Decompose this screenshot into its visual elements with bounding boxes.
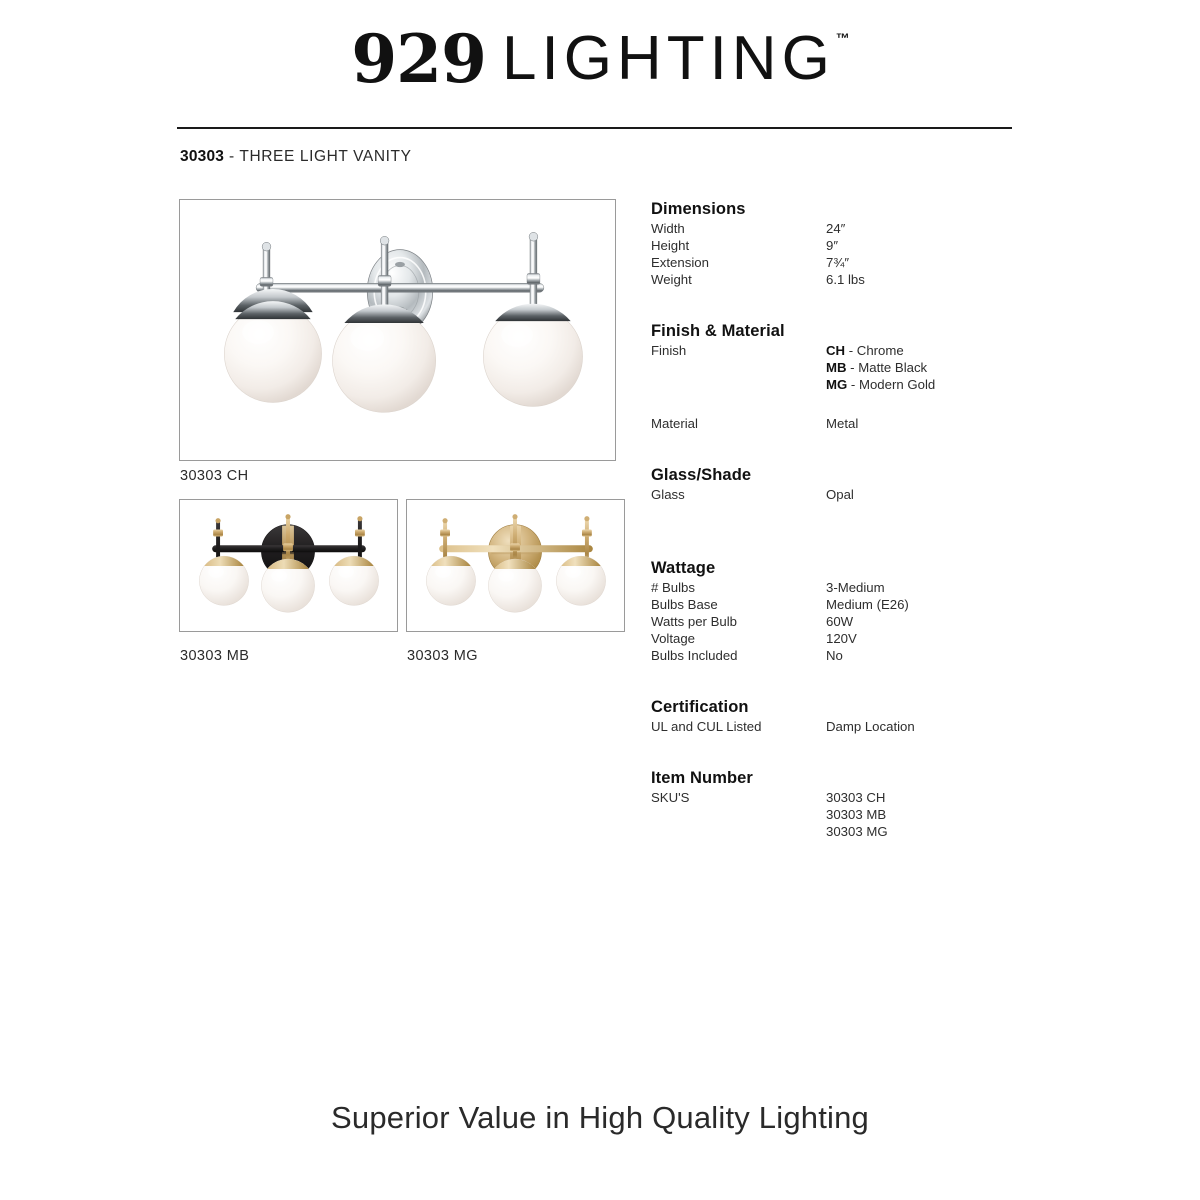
spec-section-certification: Certification UL and CUL Listed Damp Loc… xyxy=(651,698,1051,735)
spec-label-skus: SKU'S xyxy=(651,789,826,806)
spec-section-finish-material: Finish & Material Finish CH - Chrome MB … xyxy=(651,322,1051,432)
spec-row: Bulbs Base Medium (E26) xyxy=(651,596,1051,613)
spec-row: Extension 7¾″ xyxy=(651,254,1051,271)
spec-label: Extension xyxy=(651,254,826,271)
spec-row: 30303 MG xyxy=(651,823,1051,840)
title-separator: - xyxy=(224,148,239,165)
spec-row: Finish CH - Chrome xyxy=(651,342,1051,359)
spec-label: Watts per Bulb xyxy=(651,613,826,630)
finish-code-ch: CH xyxy=(826,343,845,358)
finish-dash: - xyxy=(845,343,857,358)
logo-numerals: 929 xyxy=(351,26,486,92)
spec-value: 9″ xyxy=(826,237,1051,254)
spec-value: CH - Chrome xyxy=(826,342,1051,359)
spec-row: MB - Matte Black xyxy=(651,359,1051,376)
brand-logo: 929 LIGHTING ™ xyxy=(0,26,1200,92)
spec-value-sku: 30303 MG xyxy=(826,823,1051,840)
glass-shade-heading: Glass/Shade xyxy=(651,466,1051,485)
spec-value: 3-Medium xyxy=(826,579,1051,596)
title-product-name: THREE LIGHT VANITY xyxy=(239,148,411,165)
globe-right xyxy=(483,304,582,407)
finish-dash: - xyxy=(847,377,859,392)
finish-code-mg: MG xyxy=(826,377,847,392)
spec-row: Bulbs Included No xyxy=(651,647,1051,664)
spec-row: Height 9″ xyxy=(651,237,1051,254)
spec-row: 30303 MB xyxy=(651,806,1051,823)
finish-name-mb: Matte Black xyxy=(858,360,927,375)
spec-value: Metal xyxy=(826,415,1051,432)
globe-left-mb xyxy=(199,556,248,605)
spec-value: 120V xyxy=(826,630,1051,647)
finish-material-heading: Finish & Material xyxy=(651,322,1051,341)
footer-tagline: Superior Value in High Quality Lighting xyxy=(0,1100,1200,1136)
spec-row: # Bulbs 3-Medium xyxy=(651,579,1051,596)
spec-row: Material Metal xyxy=(651,415,1051,432)
spec-value-sku: 30303 MB xyxy=(826,806,1051,823)
certification-heading: Certification xyxy=(651,698,1051,717)
spec-section-glass-shade: Glass/Shade Glass Opal xyxy=(651,466,1051,503)
item-number-heading: Item Number xyxy=(651,769,1051,788)
spec-label: Glass xyxy=(651,486,826,503)
spec-value: Medium (E26) xyxy=(826,596,1051,613)
specifications-panel: Dimensions Width 24″ Height 9″ Extension… xyxy=(651,200,1051,840)
globe-left xyxy=(224,289,321,402)
spec-value: 24″ xyxy=(826,220,1051,237)
spec-value: MB - Matte Black xyxy=(826,359,1051,376)
spec-row: Weight 6.1 lbs xyxy=(651,271,1051,288)
header-divider xyxy=(177,127,1012,129)
spec-value: 60W xyxy=(826,613,1051,630)
spec-label: # Bulbs xyxy=(651,579,826,596)
logo-wordmark: LIGHTING xyxy=(502,28,835,90)
page-title: 30303 - THREE LIGHT VANITY xyxy=(180,148,412,166)
product-image-modern-gold xyxy=(406,499,625,632)
globe-center xyxy=(333,304,436,412)
finish-dash: - xyxy=(847,360,859,375)
spec-label: UL and CUL Listed xyxy=(651,718,826,735)
caption-matte-black: 30303 MB xyxy=(180,648,249,664)
spec-value: Damp Location xyxy=(826,718,1051,735)
caption-modern-gold: 30303 MG xyxy=(407,648,478,664)
dimensions-heading: Dimensions xyxy=(651,200,1051,219)
finish-code-mb: MB xyxy=(826,360,847,375)
spec-label: Bulbs Base xyxy=(651,596,826,613)
spec-label-empty xyxy=(651,823,826,840)
product-image-chrome xyxy=(179,199,616,461)
spec-label-empty xyxy=(651,359,826,376)
crossbar xyxy=(256,283,544,292)
spec-value: Opal xyxy=(826,486,1051,503)
spec-section-dimensions: Dimensions Width 24″ Height 9″ Extension… xyxy=(651,200,1051,288)
finish-name-ch: Chrome xyxy=(857,343,904,358)
spec-label-empty xyxy=(651,806,826,823)
globe-left-mg xyxy=(426,556,475,605)
spec-value: 6.1 lbs xyxy=(826,271,1051,288)
spec-label: Material xyxy=(651,415,826,432)
spec-row: Width 24″ xyxy=(651,220,1051,237)
spec-label: Bulbs Included xyxy=(651,647,826,664)
spec-row: SKU'S 30303 CH xyxy=(651,789,1051,806)
spec-value: 7¾″ xyxy=(826,254,1051,271)
globe-right-mb xyxy=(329,556,378,605)
spec-row: Voltage 120V xyxy=(651,630,1051,647)
trademark-symbol: ™ xyxy=(836,30,850,46)
spec-label-empty xyxy=(651,376,826,393)
spec-row: MG - Modern Gold xyxy=(651,376,1051,393)
wattage-heading: Wattage xyxy=(651,559,1051,578)
spec-value-sku: 30303 CH xyxy=(826,789,1051,806)
title-sku: 30303 xyxy=(180,148,224,165)
spec-section-wattage: Wattage # Bulbs 3-Medium Bulbs Base Medi… xyxy=(651,559,1051,664)
spec-label: Weight xyxy=(651,271,826,288)
spec-row: Glass Opal xyxy=(651,486,1051,503)
globe-center-mb xyxy=(261,559,314,612)
spec-label: Voltage xyxy=(651,630,826,647)
spec-label: Finish xyxy=(651,342,826,359)
finish-name-mg: Modern Gold xyxy=(859,377,935,392)
spec-label: Height xyxy=(651,237,826,254)
spec-label: Width xyxy=(651,220,826,237)
spec-row: UL and CUL Listed Damp Location xyxy=(651,718,1051,735)
product-image-matte-black xyxy=(179,499,398,632)
spec-section-item-number: Item Number SKU'S 30303 CH 30303 MB 3030… xyxy=(651,769,1051,840)
spec-row: Watts per Bulb 60W xyxy=(651,613,1051,630)
spec-value: No xyxy=(826,647,1051,664)
globe-right-mg xyxy=(556,556,605,605)
globe-center-mg xyxy=(488,559,541,612)
caption-chrome: 30303 CH xyxy=(180,468,249,484)
spec-value: MG - Modern Gold xyxy=(826,376,1051,393)
